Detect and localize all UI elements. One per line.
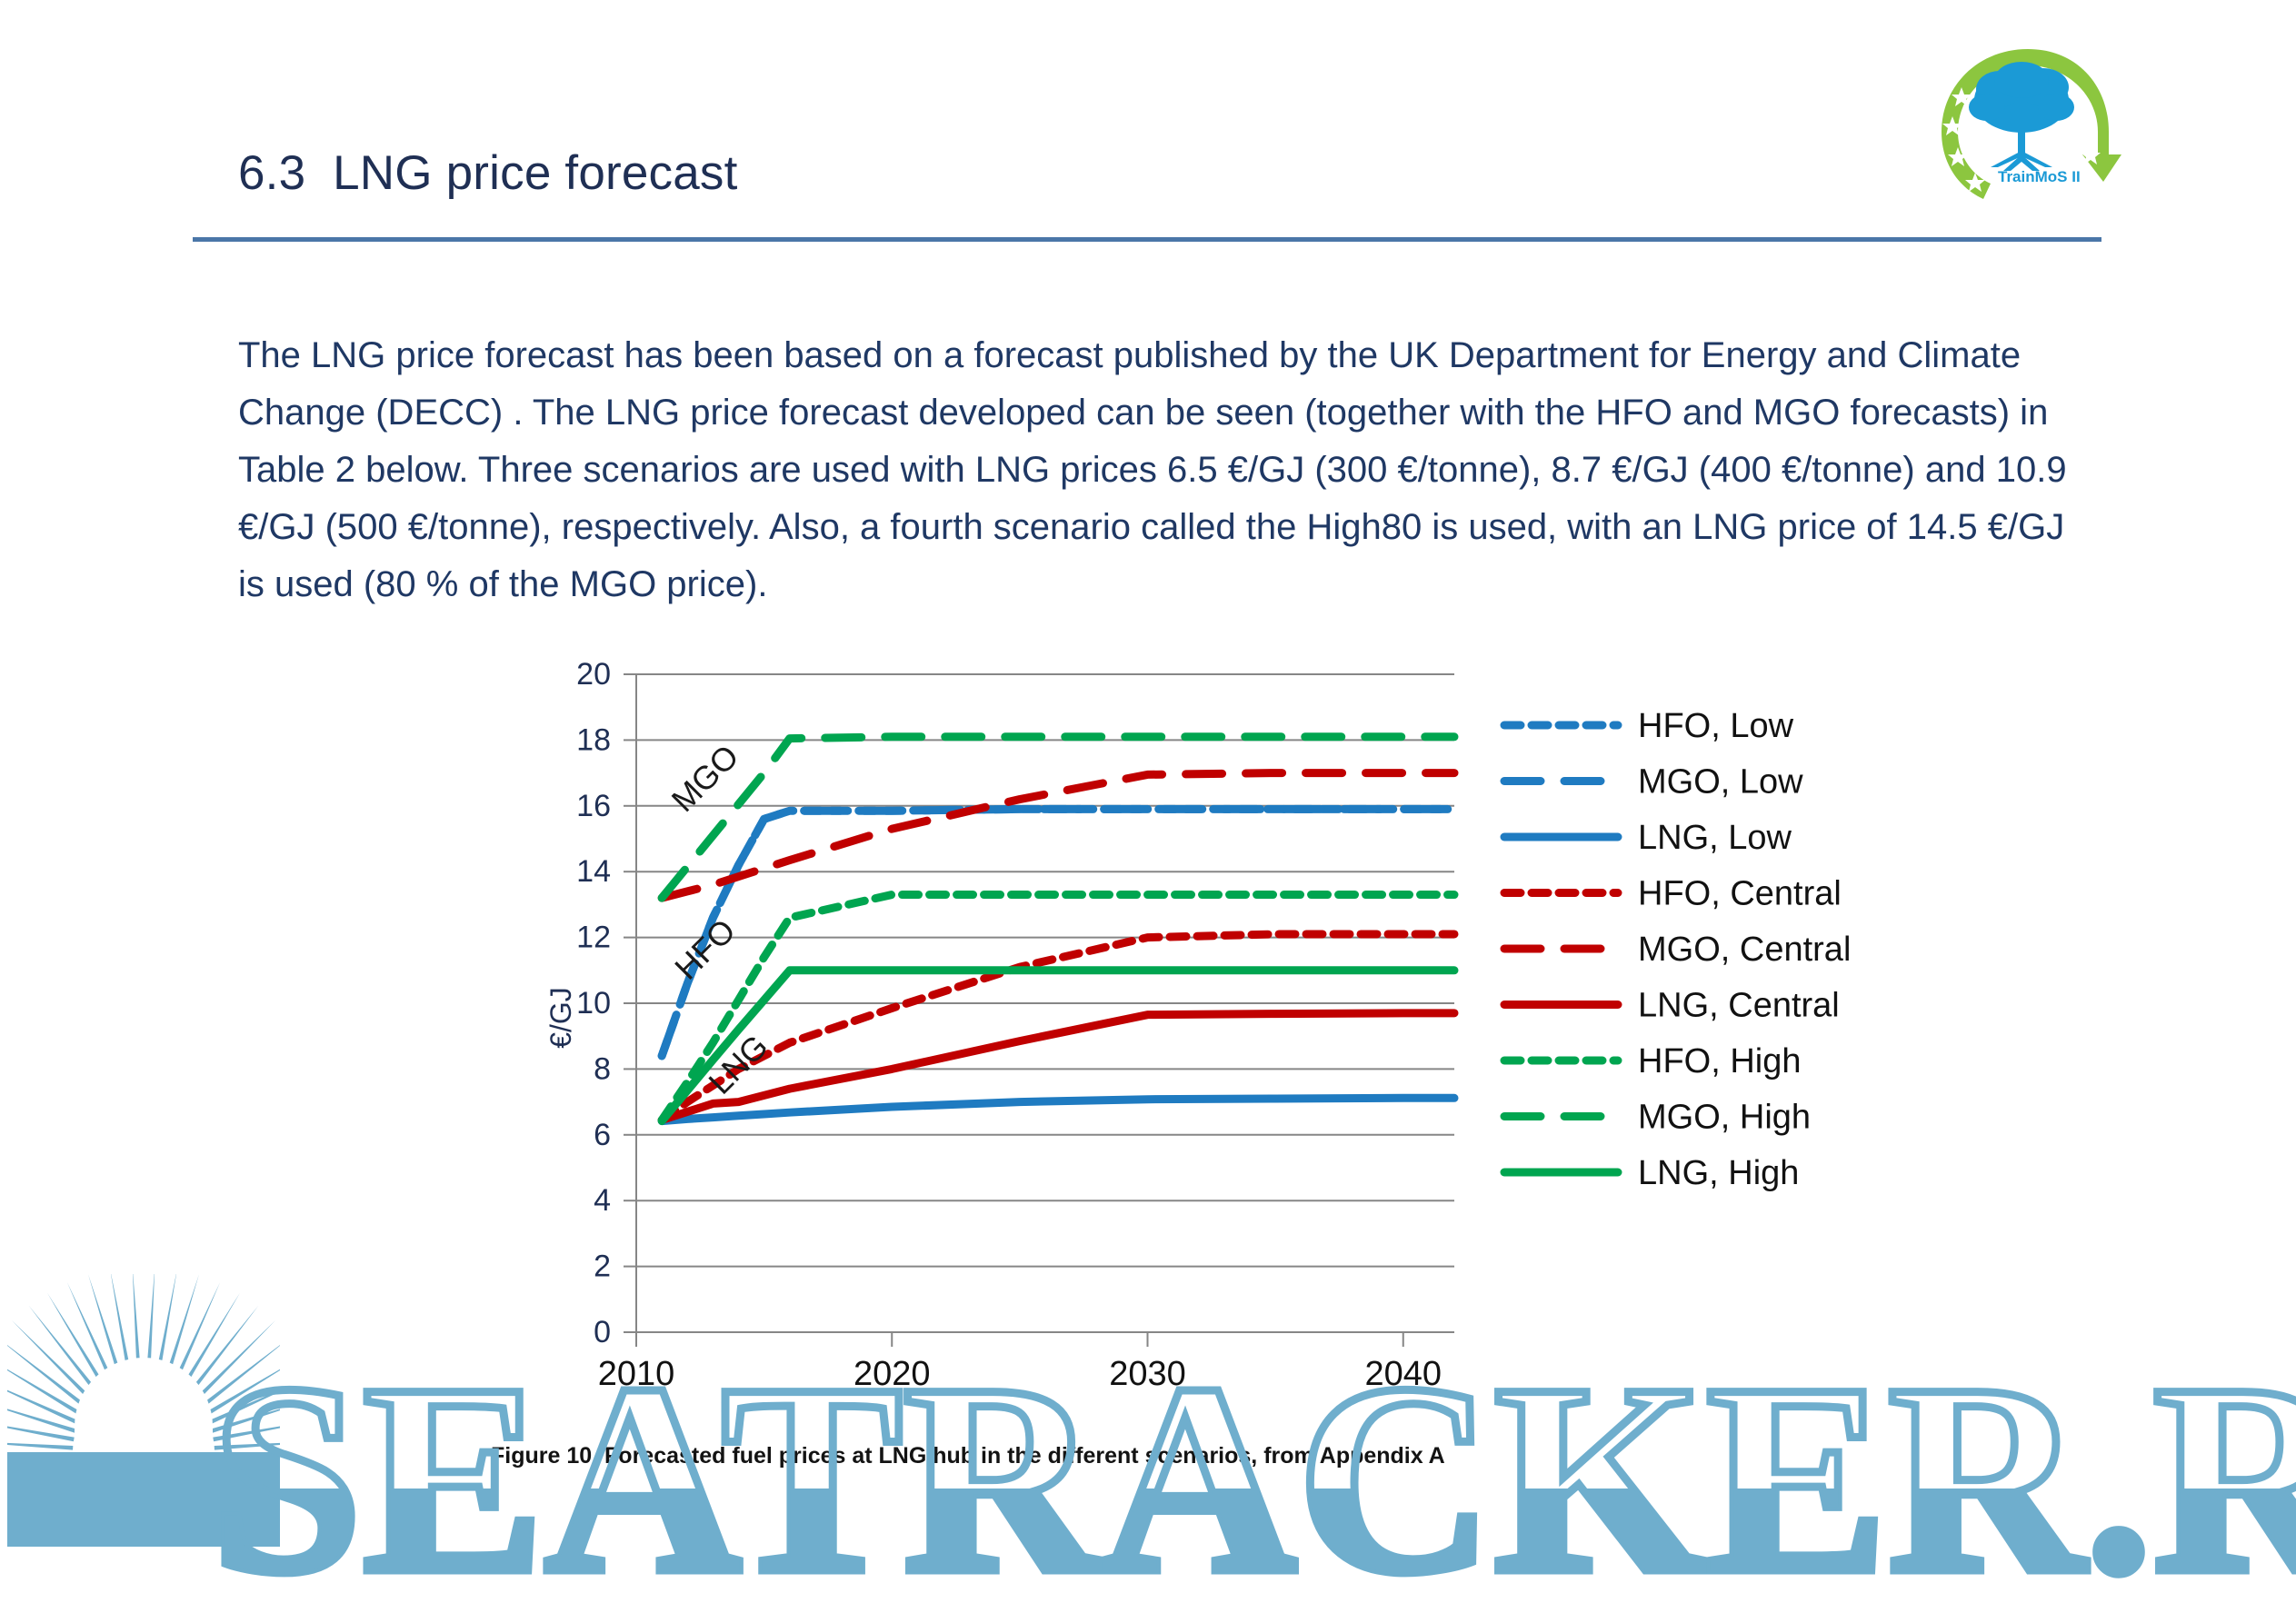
body-paragraph: The LNG price forecast has been based on…: [238, 327, 2100, 613]
legend-label: HFO, Central: [1638, 875, 1842, 913]
series-line: [662, 773, 1454, 899]
y-tick-label: 8: [594, 1051, 611, 1086]
x-tick-label: 2030: [1109, 1355, 1186, 1393]
chart-legend: HFO, LowMGO, LowLNG, LowHFO, CentralMGO,…: [1504, 707, 1851, 1192]
sun-icon: [7, 1274, 280, 1547]
y-axis-label: €/GJ: [545, 987, 577, 1049]
watermark-sun-logo: [7, 1274, 280, 1547]
trainmos-logo-icon: TrainMoS II: [1934, 44, 2121, 207]
fuel-price-chart: 02468101214161820 2010202020302040 €/GJ …: [545, 636, 1927, 1454]
figure-caption: Figure 10. Forecasted fuel prices at LNG…: [491, 1443, 1627, 1469]
legend-label: LNG, Low: [1638, 819, 1792, 857]
page-title: 6.3 LNG price forecast: [238, 145, 738, 201]
trainmos-logo: TrainMoS II: [1934, 44, 2121, 207]
y-tick-label: 18: [576, 722, 611, 757]
legend-label: MGO, Central: [1638, 931, 1851, 969]
y-tick-label: 6: [594, 1118, 611, 1152]
chart-annotation-label: HFO: [667, 911, 743, 987]
y-tick-label: 2: [594, 1250, 611, 1284]
y-tick-label: 20: [576, 657, 611, 692]
series-line: [662, 1098, 1454, 1120]
legend-label: LNG, Central: [1638, 987, 1840, 1025]
chart-svg: 02468101214161820 2010202020302040 €/GJ …: [545, 636, 1927, 1454]
series-line: [662, 895, 1454, 1120]
legend-label: MGO, High: [1638, 1099, 1811, 1137]
legend-label: MGO, Low: [1638, 763, 1803, 802]
legend-label: LNG, High: [1638, 1154, 1799, 1192]
y-tick-label: 4: [594, 1183, 611, 1218]
y-tick-label: 16: [576, 789, 611, 823]
y-tick-label: 0: [594, 1315, 611, 1349]
y-axis-tick-labels: 02468101214161820: [576, 657, 611, 1349]
y-tick-label: 14: [576, 854, 611, 889]
x-axis-tick-labels: 2010202020302040: [598, 1355, 1442, 1393]
y-tick-label: 12: [576, 921, 611, 955]
legend-label: HFO, High: [1638, 1042, 1801, 1080]
legend-label: HFO, Low: [1638, 707, 1794, 745]
chart-series-lines: [662, 737, 1454, 1121]
y-tick-label: 10: [576, 986, 611, 1021]
header-divider: [193, 237, 2101, 242]
x-tick-label: 2010: [598, 1355, 675, 1393]
logo-text: TrainMoS II: [1998, 168, 2081, 185]
x-tick-label: 2040: [1364, 1355, 1442, 1393]
x-tick-label: 2020: [854, 1355, 931, 1393]
